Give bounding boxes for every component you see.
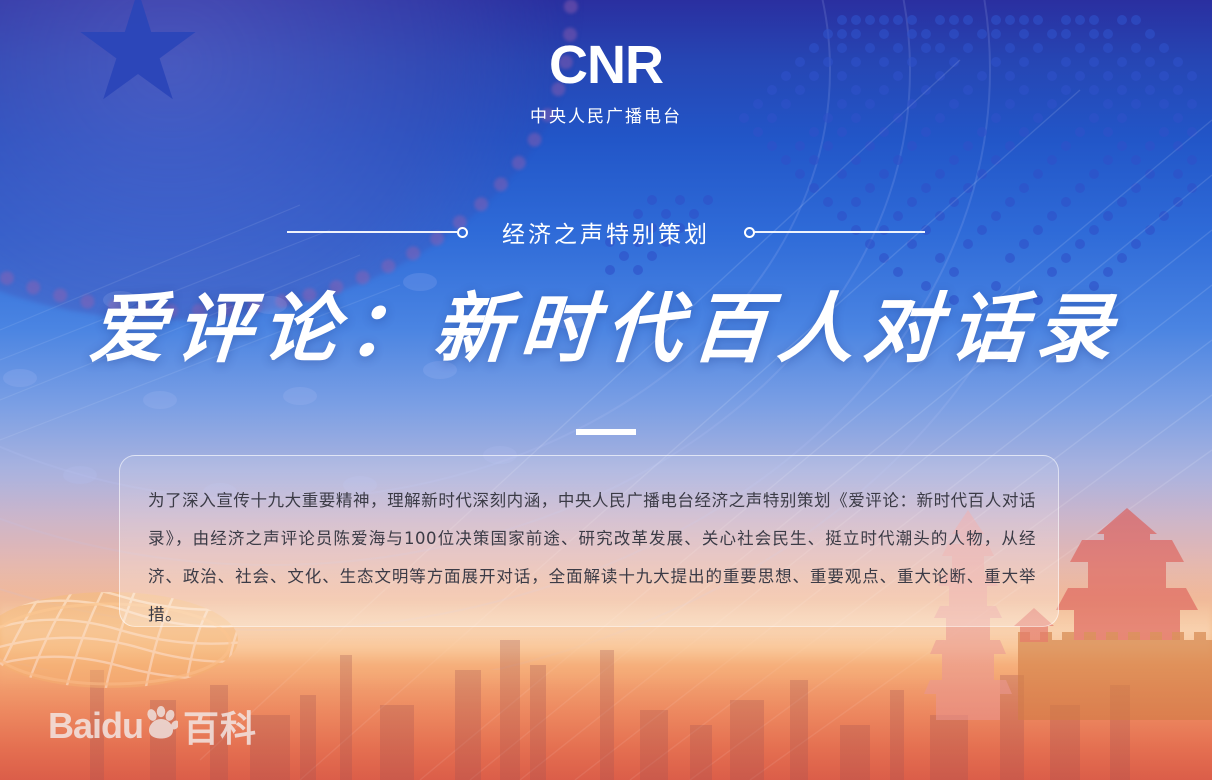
cnr-logo-subtitle: 中央人民广播电台 [0,102,1212,127]
cnr-logo: CNR 中央人民广播电台 [0,38,1212,127]
kicker-row: 经济之声特别策划 [0,212,1212,252]
title-divider [576,429,636,435]
cnr-logo-mark: CNR [0,38,1212,92]
poster-content: CNR 中央人民广播电台 经济之声特别策划 爱评论：新时代百人对话录 为了深入宣… [0,0,1212,780]
watermark-baike-text: 百科 [183,700,257,752]
baidu-baike-watermark: Baidu 百科 [48,700,257,752]
page-title: 爱评论：新时代百人对话录 [0,288,1212,370]
paw-print-icon [144,706,178,740]
kicker-line-right [755,231,925,233]
kicker-dot-right-icon [744,227,755,238]
description-text: 为了深入宣传十九大重要精神，理解新时代深刻内涵，中央人民广播电台经济之声特别策划… [148,482,1036,634]
poster-canvas: CNR 中央人民广播电台 经济之声特别策划 爱评论：新时代百人对话录 为了深入宣… [0,0,1212,780]
kicker-line-left [287,231,457,233]
watermark-baidu-text: Baidu [48,705,143,747]
kicker-dot-left-icon [457,227,468,238]
description-panel: 为了深入宣传十九大重要精神，理解新时代深刻内涵，中央人民广播电台经济之声特别策划… [119,455,1059,627]
kicker-label: 经济之声特别策划 [468,215,744,249]
